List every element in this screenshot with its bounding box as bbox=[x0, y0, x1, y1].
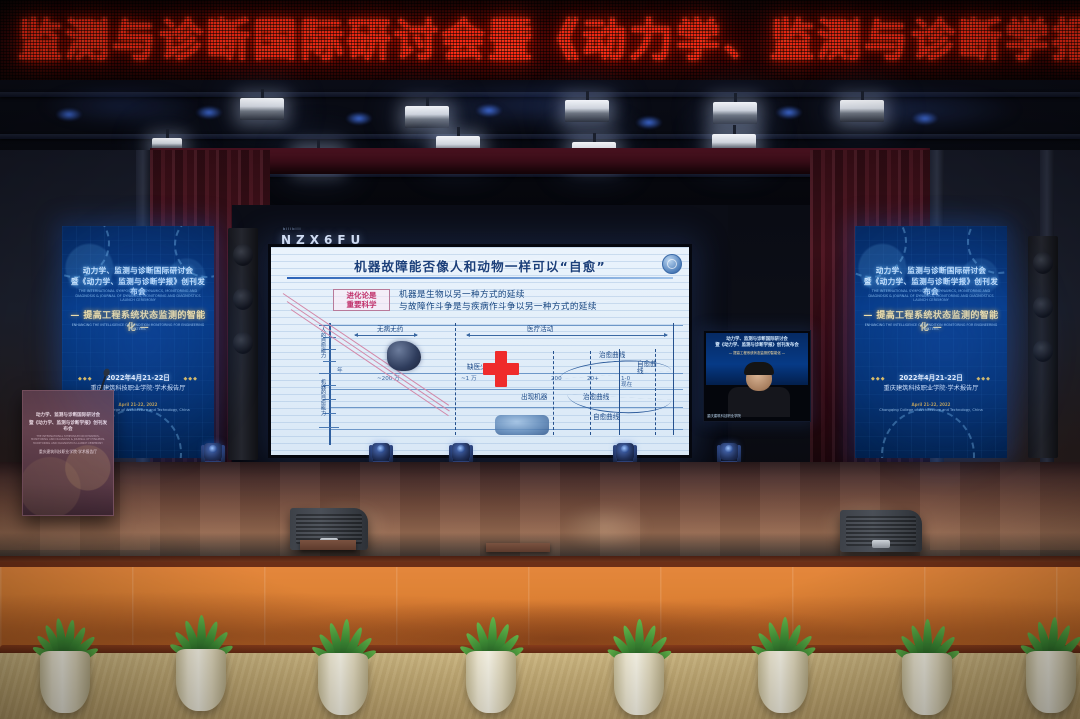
curve-label-cure-human: 治愈曲线 bbox=[599, 351, 625, 359]
plant-pot bbox=[614, 653, 664, 715]
chart-span-arrow bbox=[355, 335, 417, 336]
watermark-sub-label: bilibili bbox=[283, 227, 302, 231]
chart-label-machine-appears: 出现机器 bbox=[521, 393, 547, 401]
machinery-photo bbox=[495, 415, 549, 435]
speaker-driver bbox=[1033, 252, 1053, 274]
decor-diagonal bbox=[287, 301, 450, 411]
podium-label-line-3: 重庆建筑科技职业学院·学术报告厅 bbox=[28, 449, 108, 454]
blue-led-spot bbox=[636, 116, 662, 129]
slide-tag-line-1: 进化论是 bbox=[336, 291, 387, 300]
light-lens bbox=[377, 445, 385, 453]
panel-subtitle-en: ENHANCING THE INTELLIGENCE OF CONDITION … bbox=[863, 323, 999, 331]
blue-led-spot bbox=[776, 106, 802, 119]
light-lens bbox=[621, 445, 629, 453]
blue-led-spot bbox=[912, 112, 938, 125]
plant-pot bbox=[1026, 651, 1076, 713]
slide-tag-box: 进化论是 重要科学 bbox=[333, 289, 390, 311]
light-yoke bbox=[593, 133, 596, 142]
podium-label-line-1: 动力学、监测与诊断国际研讨会 bbox=[28, 413, 108, 419]
slide-title: 机器故障能否像人和动物一样可以“自愈” bbox=[271, 256, 689, 275]
y-axis-label-machine: 机器的自愈能力 bbox=[314, 379, 326, 415]
par-wash-light bbox=[840, 100, 884, 122]
x-tick-10k: ~1 万 bbox=[461, 375, 477, 383]
panel-venue-en: Chongqing College of Architecture and Te… bbox=[859, 408, 1003, 413]
tower-speaker-left bbox=[228, 228, 258, 460]
panel-venue-cn: 重庆建筑科技职业学院·学术报告厅 bbox=[861, 384, 1001, 393]
chart-divider bbox=[455, 323, 456, 435]
chart-gridline bbox=[331, 389, 683, 390]
par-wash-light bbox=[565, 100, 609, 122]
cross-bar-vertical bbox=[495, 351, 507, 387]
slide-body-text: 机器是生物以另一种方式的延续 与故障作斗争是与疾病作斗争以另一种方式的延续 bbox=[399, 289, 681, 313]
light-lens bbox=[209, 445, 217, 453]
speaker-driver bbox=[233, 332, 253, 354]
slide-chart: 人的自愈能力 机器的自愈能力 无病无药 医疗活动 bbox=[315, 323, 683, 451]
stage-monitor-speaker-right bbox=[840, 510, 922, 552]
chart-label-medical-activity: 医疗活动 bbox=[527, 325, 553, 333]
panel-date-cn: 2022年4月21-22日 bbox=[68, 374, 208, 383]
speaker-driver bbox=[233, 244, 253, 266]
blue-led-spot bbox=[476, 104, 502, 117]
plant-pot bbox=[176, 649, 226, 711]
led-scrolling-banner: 监测与诊断国际研讨会暨《动力学、监测与诊断学报》创 bbox=[0, 0, 1080, 82]
remote-speaker-video-feed[interactable]: 动力学、监测与诊断国际研讨会 暨《动力学、监测与诊断学报》创刊发布会 — 提高工… bbox=[703, 330, 811, 422]
speaker-driver bbox=[1033, 296, 1053, 318]
slide-body-line-2: 与故障作斗争是与疾病作斗争以另一种方式的延续 bbox=[399, 301, 681, 313]
y-axis-tick bbox=[319, 427, 339, 428]
plant-pot bbox=[902, 653, 952, 715]
slide-body-line-1: 机器是生物以另一种方式的延续 bbox=[399, 289, 681, 301]
led-side-panel-right[interactable]: 动力学、监测与诊断国际研讨会 暨《动力学、监测与诊断学报》创刊发布会 THE I… bbox=[855, 226, 1007, 458]
inset-slide-subtitle: — 提高工程系统状态监测的智能化 — bbox=[708, 351, 806, 355]
speaker-driver bbox=[1033, 340, 1053, 362]
light-lens bbox=[457, 445, 465, 453]
chart-axis-right bbox=[673, 323, 674, 435]
medical-red-cross bbox=[483, 351, 519, 387]
slide-tag-line-2: 重要科学 bbox=[336, 300, 387, 309]
light-yoke bbox=[586, 91, 589, 100]
light-yoke bbox=[317, 139, 320, 148]
chart-span-arrow bbox=[467, 335, 667, 336]
inset-caption: 重庆建筑科技职业学院 bbox=[707, 413, 741, 418]
podium-label-line-2: 暨《动力学、监测与诊断学报》创刊发布会 bbox=[28, 421, 108, 434]
chart-label-now: 现在 bbox=[621, 381, 632, 389]
light-yoke bbox=[261, 89, 264, 98]
y-axis-tick bbox=[323, 361, 336, 362]
panel-subtitle-en: ENHANCING THE INTELLIGENCE OF CONDITION … bbox=[70, 323, 206, 331]
auditorium-stage-photo: 监测与诊断国际研讨会暨《动力学、监测与诊断学报》创 bbox=[0, 0, 1080, 719]
tower-speaker-right bbox=[1028, 236, 1058, 458]
speaker-driver bbox=[233, 288, 253, 310]
inset-slide-title: 动力学、监测与诊断国际研讨会 暨《动力学、监测与诊断学报》创刊发布会 bbox=[708, 337, 806, 349]
speaker-podium[interactable]: 动力学、监测与诊断国际研讨会 暨《动力学、监测与诊断学报》创刊发布会 THE I… bbox=[22, 390, 114, 516]
light-yoke bbox=[166, 129, 169, 138]
panel-title-en: THE INTERNATIONAL SYMPOSIUM ON DYNAMICS,… bbox=[863, 289, 999, 303]
chart-divider bbox=[553, 351, 554, 435]
plant-pot bbox=[318, 653, 368, 715]
light-yoke bbox=[861, 91, 864, 100]
main-led-presentation-screen[interactable]: 机器故障能否像人和动物一样可以“自愈” 进化论是 重要科学 机器是生物以另一种方… bbox=[268, 244, 692, 458]
university-seal-logo bbox=[662, 254, 682, 274]
par-wash-light bbox=[713, 102, 757, 124]
blue-led-spot bbox=[346, 112, 372, 125]
x-tick-year: 年 bbox=[337, 367, 343, 375]
panel-title-en: THE INTERNATIONAL SYMPOSIUM ON DYNAMICS,… bbox=[70, 289, 206, 303]
light-yoke bbox=[426, 97, 429, 106]
blue-led-spot bbox=[56, 108, 82, 121]
par-wash-light bbox=[405, 106, 449, 128]
brain-photo bbox=[387, 341, 421, 371]
led-banner-text: 监测与诊断国际研讨会暨《动力学、监测与诊断学报》创 bbox=[18, 16, 1080, 66]
stage-step bbox=[300, 540, 356, 550]
plant-pot bbox=[40, 651, 90, 713]
panel-date-cn: 2022年4月21-22日 bbox=[861, 374, 1001, 383]
floor-reflection bbox=[560, 504, 650, 550]
speaker-hair bbox=[744, 362, 774, 375]
speaker-badge bbox=[872, 540, 890, 548]
light-lens bbox=[725, 445, 733, 453]
light-yoke bbox=[734, 93, 737, 102]
plant-pot bbox=[758, 651, 808, 713]
podium-label-en: THE INTERNATIONAL SYMPOSIUM ON DYNAMICS,… bbox=[29, 435, 107, 445]
light-yoke bbox=[457, 127, 460, 136]
curve-label-selfheal-machine: 自愈曲线 bbox=[593, 413, 619, 421]
slide-title-divider bbox=[287, 277, 673, 279]
presentation-slide: 机器故障能否像人和动物一样可以“自愈” 进化论是 重要科学 机器是生物以另一种方… bbox=[271, 247, 689, 455]
stage-step bbox=[486, 543, 550, 552]
par-wash-light bbox=[240, 98, 284, 120]
chart-label-no-medicine: 无病无药 bbox=[377, 325, 403, 333]
plant-pot bbox=[466, 651, 516, 713]
blue-led-spot bbox=[196, 106, 222, 119]
light-yoke bbox=[733, 125, 736, 134]
